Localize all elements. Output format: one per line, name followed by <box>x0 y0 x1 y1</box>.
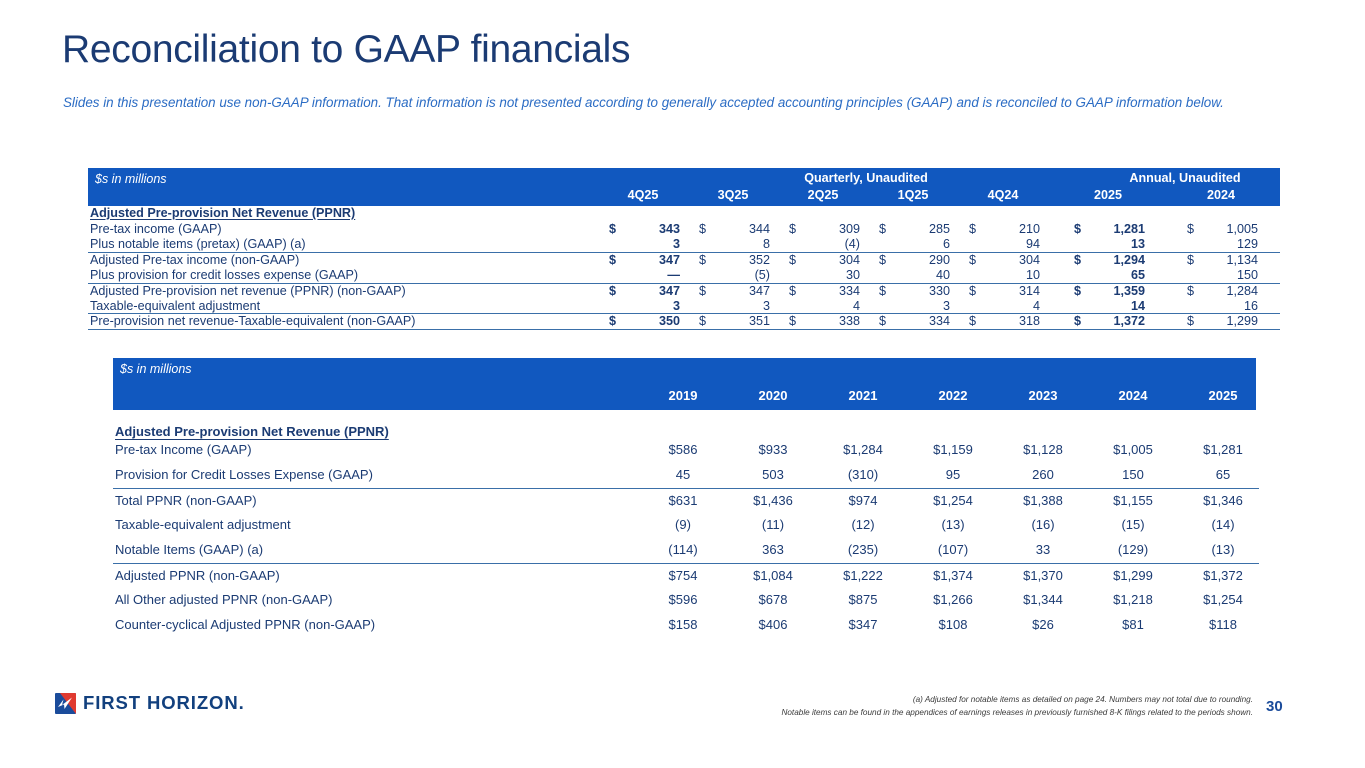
table2-cell-value: (9) <box>643 517 723 532</box>
table2-cell-value: $1,005 <box>1093 442 1173 457</box>
table1-cell-value: 1,299 <box>1196 314 1258 328</box>
table2-cell-value: $1,254 <box>1183 592 1263 607</box>
table2-cell-value: $1,388 <box>1003 493 1083 508</box>
table1-currency-symbol: $ <box>1187 253 1194 267</box>
table2-cell-value: $1,159 <box>913 442 993 457</box>
table1-cell-value: 1,284 <box>1196 284 1258 298</box>
annual-ppnr-table: $s in millions 2019202020212022202320242… <box>113 358 1259 638</box>
table2-section-heading: Adjusted Pre-provision Net Revenue (PPNR… <box>115 424 389 439</box>
footnote-line-1: (a) Adjusted for notable items as detail… <box>633 694 1253 707</box>
table2-cell-value: $1,346 <box>1183 493 1263 508</box>
table2-cell-value: 95 <box>913 467 993 482</box>
table2-cell-value: $1,344 <box>1003 592 1083 607</box>
table1-cell-value: 10 <box>978 268 1040 282</box>
first-horizon-logo: FIRST HORIZON. <box>55 692 245 714</box>
table1-cell-value: 304 <box>978 253 1040 267</box>
table2-cell-value: (16) <box>1003 517 1083 532</box>
table1-row-label: Pre-tax income (GAAP) <box>90 222 222 236</box>
table2-column-header-2019: 2019 <box>643 388 723 403</box>
table1-currency-symbol: $ <box>789 222 796 236</box>
table1-cell-value: 334 <box>888 314 950 328</box>
table1-cell-value: 40 <box>888 268 950 282</box>
table1-cell-value: 318 <box>978 314 1040 328</box>
table1-currency-symbol: $ <box>969 314 976 328</box>
table2-cell-value: $1,084 <box>733 568 813 583</box>
table1-cell-value: 314 <box>978 284 1040 298</box>
table1-cell-value: 338 <box>798 314 860 328</box>
table1-cell-value: 13 <box>1083 237 1145 251</box>
table2-section-heading-row: Adjusted Pre-provision Net Revenue (PPNR… <box>113 410 1259 438</box>
table1-currency-symbol: $ <box>1187 284 1194 298</box>
table2-cell-value: $1,155 <box>1093 493 1173 508</box>
quarterly-annual-reconciliation-table: $s in millions Quarterly, UnauditedAnnua… <box>88 168 1280 330</box>
table1-column-header-4q25: 4Q25 <box>608 188 678 202</box>
table2-cell-value: (13) <box>1183 542 1263 557</box>
table2-row-label: Counter-cyclical Adjusted PPNR (non-GAAP… <box>115 617 375 632</box>
table1-currency-symbol: $ <box>609 222 616 236</box>
table1-cell-value: 8 <box>708 237 770 251</box>
table2-column-header-2020: 2020 <box>733 388 813 403</box>
table1-cell-value: 1,359 <box>1083 284 1145 298</box>
table1-column-header-2024: 2024 <box>1186 188 1256 202</box>
table1-cell-value: 350 <box>618 314 680 328</box>
table1-currency-symbol: $ <box>1187 222 1194 236</box>
table1-column-header-1q25: 1Q25 <box>878 188 948 202</box>
table2-cell-value: $754 <box>643 568 723 583</box>
table1-currency-symbol: $ <box>879 314 886 328</box>
table1-currency-symbol: $ <box>789 284 796 298</box>
table-row: Taxable-equivalent adjustment(9)(11)(12)… <box>113 513 1259 538</box>
table1-cell-value: 351 <box>708 314 770 328</box>
table1-section-heading-row: Adjusted Pre-provision Net Revenue (PPNR… <box>88 206 1280 222</box>
table2-cell-value: (114) <box>643 542 723 557</box>
table2-cell-value: $118 <box>1183 617 1263 632</box>
page-number: 30 <box>1266 698 1283 715</box>
logo-wordmark: FIRST HORIZON. <box>83 692 245 714</box>
table2-cell-value: $1,299 <box>1093 568 1173 583</box>
table2-cell-value: 33 <box>1003 542 1083 557</box>
table2-cell-value: 150 <box>1093 467 1173 482</box>
table2-cell-value: $1,436 <box>733 493 813 508</box>
table1-cell-value: 3 <box>618 299 680 313</box>
table2-cell-value: $1,266 <box>913 592 993 607</box>
table1-currency-symbol: $ <box>1074 253 1081 267</box>
table2-cell-value: (107) <box>913 542 993 557</box>
table2-cell-value: $1,218 <box>1093 592 1173 607</box>
table-row: Adjusted Pre-tax income (non-GAAP)$347$3… <box>88 253 1280 268</box>
table1-row-label: Pre-provision net revenue-Taxable-equiva… <box>90 314 416 328</box>
table1-cell-value: 352 <box>708 253 770 267</box>
table-row: Pre-provision net revenue-Taxable-equiva… <box>88 314 1280 329</box>
table1-currency-symbol: $ <box>789 314 796 328</box>
table2-column-header-2021: 2021 <box>823 388 903 403</box>
table1-group-header: Annual, Unaudited <box>1091 171 1279 185</box>
table1-currency-symbol: $ <box>879 253 886 267</box>
table-row: Adjusted PPNR (non-GAAP)$754$1,084$1,222… <box>113 563 1259 588</box>
table2-row-label: All Other adjusted PPNR (non-GAAP) <box>115 592 332 607</box>
table1-cell-value: 1,372 <box>1083 314 1145 328</box>
table2-cell-value: $81 <box>1093 617 1173 632</box>
table1-cell-value: 1,294 <box>1083 253 1145 267</box>
table2-cell-value: $1,254 <box>913 493 993 508</box>
table2-cell-value: $631 <box>643 493 723 508</box>
table1-row-label: Taxable-equivalent adjustment <box>90 299 260 313</box>
table2-column-header-2023: 2023 <box>1003 388 1083 403</box>
table1-currency-symbol: $ <box>1074 222 1081 236</box>
table2-row-label: Pre-tax Income (GAAP) <box>115 442 252 457</box>
table2-cell-value: $974 <box>823 493 903 508</box>
table2-cell-value: $158 <box>643 617 723 632</box>
table2-cell-value: 363 <box>733 542 813 557</box>
table1-column-header-4q24: 4Q24 <box>968 188 1038 202</box>
table2-row-label: Adjusted PPNR (non-GAAP) <box>115 568 280 583</box>
table-row: Total PPNR (non-GAAP)$631$1,436$974$1,25… <box>113 488 1259 513</box>
table1-currency-symbol: $ <box>879 284 886 298</box>
table1-body: Adjusted Pre-provision Net Revenue (PPNR… <box>88 206 1280 330</box>
table1-cell-value: 290 <box>888 253 950 267</box>
footnotes: (a) Adjusted for notable items as detail… <box>633 694 1253 719</box>
table2-cell-value: (11) <box>733 517 813 532</box>
table2-cell-value: (129) <box>1093 542 1173 557</box>
table2-body: Adjusted Pre-provision Net Revenue (PPNR… <box>113 410 1259 638</box>
table2-cell-value: 65 <box>1183 467 1263 482</box>
table1-cell-value: 30 <box>798 268 860 282</box>
table1-currency-symbol: $ <box>699 314 706 328</box>
footnote-line-2: Notable items can be found in the append… <box>633 707 1253 720</box>
table2-cell-value: 260 <box>1003 467 1083 482</box>
table-row: Counter-cyclical Adjusted PPNR (non-GAAP… <box>113 613 1259 638</box>
table2-cell-value: $1,372 <box>1183 568 1263 583</box>
table2-row-label: Provision for Credit Losses Expense (GAA… <box>115 467 373 482</box>
table1-currency-symbol: $ <box>969 222 976 236</box>
table-row: Pre-tax income (GAAP)$343$344$309$285$21… <box>88 222 1280 237</box>
table2-header-bar: $s in millions 2019202020212022202320242… <box>113 358 1256 410</box>
slide-subtitle: Slides in this presentation use non-GAAP… <box>63 92 1248 113</box>
table1-cell-value: 210 <box>978 222 1040 236</box>
table1-cell-value: 347 <box>618 253 680 267</box>
table-row: Adjusted Pre-provision net revenue (PPNR… <box>88 284 1280 299</box>
table1-currency-symbol: $ <box>699 253 706 267</box>
table1-cell-value: 330 <box>888 284 950 298</box>
table1-cell-value: 94 <box>978 237 1040 251</box>
table1-cell-value: 347 <box>618 284 680 298</box>
table1-row-label: Plus provision for credit losses expense… <box>90 268 358 282</box>
table1-cell-value: 3 <box>618 237 680 251</box>
table-row: Plus notable items (pretax) (GAAP) (a)38… <box>88 237 1280 252</box>
table1-cell-value: 334 <box>798 284 860 298</box>
table1-currency-symbol: $ <box>1074 314 1081 328</box>
table-row: Provision for Credit Losses Expense (GAA… <box>113 463 1259 488</box>
table1-currency-symbol: $ <box>789 253 796 267</box>
table1-cell-value: 347 <box>708 284 770 298</box>
table1-column-header-2q25: 2Q25 <box>788 188 858 202</box>
table1-currency-symbol: $ <box>699 284 706 298</box>
table1-currency-symbol: $ <box>1187 314 1194 328</box>
table1-currency-symbol: $ <box>609 253 616 267</box>
table1-cell-value: 304 <box>798 253 860 267</box>
table1-row-label: Adjusted Pre-provision net revenue (PPNR… <box>90 284 406 298</box>
table1-header-bar: $s in millions Quarterly, UnauditedAnnua… <box>88 168 1280 206</box>
table1-cell-value: 285 <box>888 222 950 236</box>
table2-cell-value: $108 <box>913 617 993 632</box>
table2-units-label: $s in millions <box>120 362 192 376</box>
table1-cell-value: (5) <box>708 268 770 282</box>
table1-cell-value: 3 <box>708 299 770 313</box>
table2-column-header-2022: 2022 <box>913 388 993 403</box>
table2-row-label: Total PPNR (non-GAAP) <box>115 493 257 508</box>
table1-cell-value: 16 <box>1196 299 1258 313</box>
table1-column-header-2025: 2025 <box>1073 188 1143 202</box>
table2-row-label: Taxable-equivalent adjustment <box>115 517 291 532</box>
table2-cell-value: 503 <box>733 467 813 482</box>
table2-cell-value: 45 <box>643 467 723 482</box>
table1-currency-symbol: $ <box>609 284 616 298</box>
first-horizon-star-icon <box>55 693 76 714</box>
table2-cell-value: $1,374 <box>913 568 993 583</box>
table1-section-heading: Adjusted Pre-provision Net Revenue (PPNR… <box>90 206 355 220</box>
table1-cell-value: 1,134 <box>1196 253 1258 267</box>
table1-group-header: Quarterly, Unaudited <box>641 171 1091 185</box>
table2-column-header-2025: 2025 <box>1183 388 1263 403</box>
table-row: Taxable-equivalent adjustment334341416 <box>88 299 1280 314</box>
table2-cell-value: $586 <box>643 442 723 457</box>
table1-cell-value: 344 <box>708 222 770 236</box>
table2-row-label: Notable Items (GAAP) (a) <box>115 542 263 557</box>
table2-cell-value: $678 <box>733 592 813 607</box>
table2-column-header-2024: 2024 <box>1093 388 1173 403</box>
table1-cell-value: — <box>618 268 680 282</box>
table2-cell-value: (12) <box>823 517 903 532</box>
table2-cell-value: (310) <box>823 467 903 482</box>
table2-cell-value: $26 <box>1003 617 1083 632</box>
table1-cell-value: 14 <box>1083 299 1145 313</box>
table2-cell-value: (15) <box>1093 517 1173 532</box>
table2-cell-value: $933 <box>733 442 813 457</box>
table2-cell-value: $875 <box>823 592 903 607</box>
slide-root: Reconciliation to GAAP financials Slides… <box>0 0 1365 768</box>
table2-cell-value: $1,370 <box>1003 568 1083 583</box>
table1-cell-value: 1,005 <box>1196 222 1258 236</box>
table1-currency-symbol: $ <box>609 314 616 328</box>
table-row: Pre-tax Income (GAAP)$586$933$1,284$1,15… <box>113 438 1259 463</box>
table2-cell-value: $406 <box>733 617 813 632</box>
table1-cell-value: 1,281 <box>1083 222 1145 236</box>
table-row: Notable Items (GAAP) (a)(114)363(235)(10… <box>113 538 1259 563</box>
table2-cell-value: $1,284 <box>823 442 903 457</box>
table1-cell-value: 6 <box>888 237 950 251</box>
table1-currency-symbol: $ <box>699 222 706 236</box>
table1-column-header-3q25: 3Q25 <box>698 188 768 202</box>
table2-cell-value: (14) <box>1183 517 1263 532</box>
table1-cell-value: 3 <box>888 299 950 313</box>
table1-row-label: Plus notable items (pretax) (GAAP) (a) <box>90 237 306 251</box>
table2-cell-value: $1,222 <box>823 568 903 583</box>
table1-cell-value: (4) <box>798 237 860 251</box>
table2-cell-value: (13) <box>913 517 993 532</box>
table1-cell-value: 4 <box>978 299 1040 313</box>
table2-cell-value: (235) <box>823 542 903 557</box>
table1-cell-value: 150 <box>1196 268 1258 282</box>
table1-currency-symbol: $ <box>969 284 976 298</box>
table1-currency-symbol: $ <box>969 253 976 267</box>
table1-cell-value: 309 <box>798 222 860 236</box>
table1-cell-value: 4 <box>798 299 860 313</box>
table1-currency-symbol: $ <box>1074 284 1081 298</box>
page-title: Reconciliation to GAAP financials <box>62 28 630 72</box>
table1-row-label: Adjusted Pre-tax income (non-GAAP) <box>90 253 299 267</box>
table2-cell-value: $347 <box>823 617 903 632</box>
table2-cell-value: $596 <box>643 592 723 607</box>
table1-currency-symbol: $ <box>879 222 886 236</box>
table2-cell-value: $1,281 <box>1183 442 1263 457</box>
table1-cell-value: 129 <box>1196 237 1258 251</box>
table1-units-label: $s in millions <box>95 172 167 186</box>
table1-cell-value: 65 <box>1083 268 1145 282</box>
table-row: Plus provision for credit losses expense… <box>88 268 1280 283</box>
table1-cell-value: 343 <box>618 222 680 236</box>
table2-cell-value: $1,128 <box>1003 442 1083 457</box>
table-row: All Other adjusted PPNR (non-GAAP)$596$6… <box>113 588 1259 613</box>
